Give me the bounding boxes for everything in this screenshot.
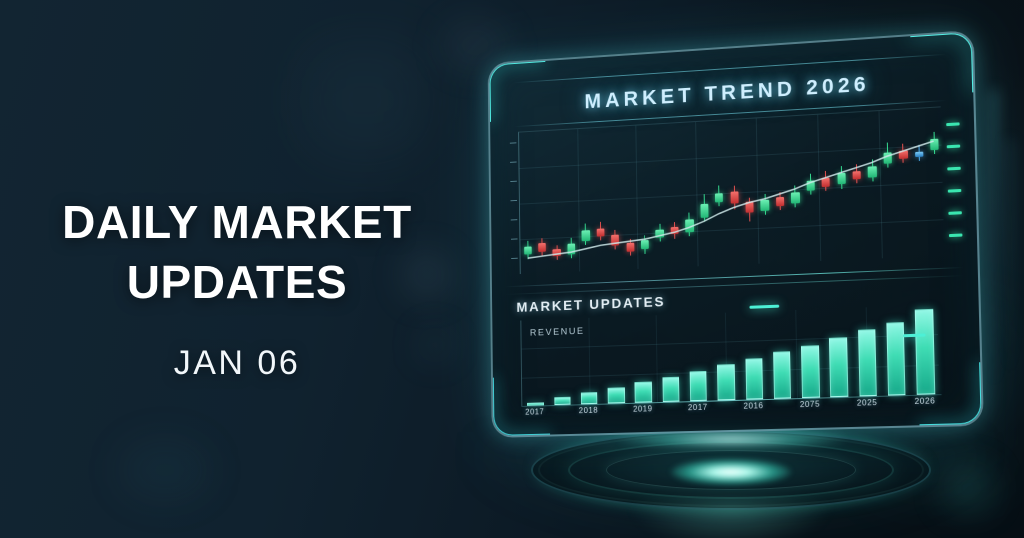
bokeh-light-4 <box>946 468 990 508</box>
x-axis-label: 2075 <box>800 400 820 410</box>
candle-body <box>776 197 784 206</box>
x-axis-label: 2026 <box>914 396 935 406</box>
candle-body <box>883 152 892 164</box>
pedestal-reflection <box>631 502 831 538</box>
candlestick <box>774 116 785 263</box>
x-axis-label: 2018 <box>579 406 598 415</box>
candlestick <box>551 129 561 272</box>
candle-body <box>837 173 846 185</box>
candle-body <box>930 138 939 150</box>
candlestick <box>684 121 695 267</box>
candle-body <box>730 191 738 204</box>
candlestick <box>929 107 941 257</box>
bar <box>886 322 906 396</box>
candlestick <box>820 113 831 261</box>
candlestick <box>714 119 725 265</box>
light-streak-1 <box>992 90 996 390</box>
date-label: JAN 06 <box>0 344 474 383</box>
axis-tick-left <box>510 142 517 143</box>
candle-body <box>596 228 604 237</box>
axis-tick-left <box>511 200 518 201</box>
bar <box>690 371 708 402</box>
candle-body <box>641 240 649 250</box>
bar <box>581 392 598 404</box>
candle-body <box>715 193 723 202</box>
candle-body <box>524 246 532 254</box>
holographic-screen: MARKET TREND 2026 MARKET UPDATES REVENUE… <box>488 30 984 438</box>
candlestick <box>522 131 532 274</box>
candlestick <box>790 115 801 262</box>
candlestick <box>639 124 649 269</box>
candlestick <box>669 122 679 267</box>
bar <box>829 337 848 397</box>
background-blur-panel-left <box>300 40 430 160</box>
light-streak-2 <box>1008 140 1011 380</box>
candlestick <box>729 119 740 265</box>
candlestick <box>699 120 710 266</box>
candlestick <box>836 112 848 260</box>
candle-body <box>761 199 769 210</box>
axis-tick-left <box>511 258 518 259</box>
candle-body <box>626 243 634 252</box>
candlestick <box>805 114 816 262</box>
candlestick <box>580 127 590 271</box>
gridline-vertical <box>795 310 798 398</box>
axis-tick-right <box>949 233 963 237</box>
candle-body <box>745 201 753 212</box>
axis-tick-right <box>948 189 961 193</box>
bar <box>662 377 679 402</box>
candle-body <box>567 243 575 254</box>
axis-tick-right <box>947 167 960 171</box>
candle-body <box>700 204 708 218</box>
x-axis-label: 2025 <box>857 398 878 408</box>
x-axis-label: 2016 <box>743 401 763 411</box>
candle-body <box>853 171 862 180</box>
x-axis-label: 2017 <box>525 407 544 416</box>
screen-frame: MARKET TREND 2026 MARKET UPDATES REVENUE… <box>488 30 984 438</box>
axis-tick-left <box>510 181 517 182</box>
holo-pedestal <box>536 424 926 516</box>
candlestick <box>759 117 770 264</box>
axis-tick-right <box>946 122 959 126</box>
bar <box>915 309 935 395</box>
x-axis-label: 2019 <box>633 404 653 413</box>
panel-divider-2 <box>505 275 963 295</box>
candle-body <box>656 229 664 238</box>
pedestal-core-light <box>671 459 791 485</box>
candle-body <box>806 180 815 190</box>
x-axis-label: 2017 <box>688 403 708 412</box>
bar <box>608 387 625 403</box>
candle-body <box>538 243 546 251</box>
candlestick <box>882 109 894 258</box>
axis-tick-right <box>947 145 960 149</box>
candlestick <box>851 111 863 259</box>
candlestick <box>624 125 634 270</box>
candle-body <box>685 220 693 233</box>
revenue-axis-label: REVENUE <box>530 326 585 339</box>
candlestick-chart <box>518 106 944 274</box>
candlestick <box>898 108 910 257</box>
updates-title: MARKET UPDATES <box>516 293 665 315</box>
candle-body <box>582 230 590 241</box>
axis-tick-left <box>511 219 518 220</box>
bokeh-light-5 <box>120 440 210 500</box>
bar <box>717 364 735 400</box>
candlestick <box>867 110 879 259</box>
bar <box>773 351 791 399</box>
candle-body <box>553 249 561 256</box>
candle-body <box>822 178 831 187</box>
candle-body <box>611 234 619 245</box>
candlestick <box>914 107 926 256</box>
candlestick <box>595 127 605 271</box>
revenue-bar-chart <box>520 305 939 406</box>
candle-body <box>791 192 800 204</box>
candlestick <box>566 128 576 272</box>
candle-body <box>671 227 679 234</box>
headline-line-2: UPDATES <box>0 252 474 312</box>
candle-body <box>915 152 924 157</box>
headline-block: DAILY MARKET UPDATES <box>0 192 474 312</box>
bar <box>801 345 820 398</box>
candle-body <box>899 150 908 159</box>
candlestick <box>744 118 755 265</box>
highlight-marker-upper <box>749 305 779 309</box>
gridline-vertical <box>656 315 658 402</box>
market-update-banner: DAILY MARKET UPDATES JAN 06 MARKET TREND… <box>0 0 1024 538</box>
bar <box>635 382 652 403</box>
bar <box>745 358 763 400</box>
candlestick <box>654 123 664 268</box>
axis-tick-left <box>510 162 517 163</box>
candle-body <box>868 166 877 178</box>
axis-tick-right <box>948 211 961 215</box>
headline-line-1: DAILY MARKET <box>0 192 474 252</box>
bar <box>858 330 877 397</box>
gridline-vertical <box>588 318 590 404</box>
axis-tick-left <box>511 238 518 239</box>
candlestick <box>537 130 547 273</box>
candlestick <box>610 126 620 270</box>
